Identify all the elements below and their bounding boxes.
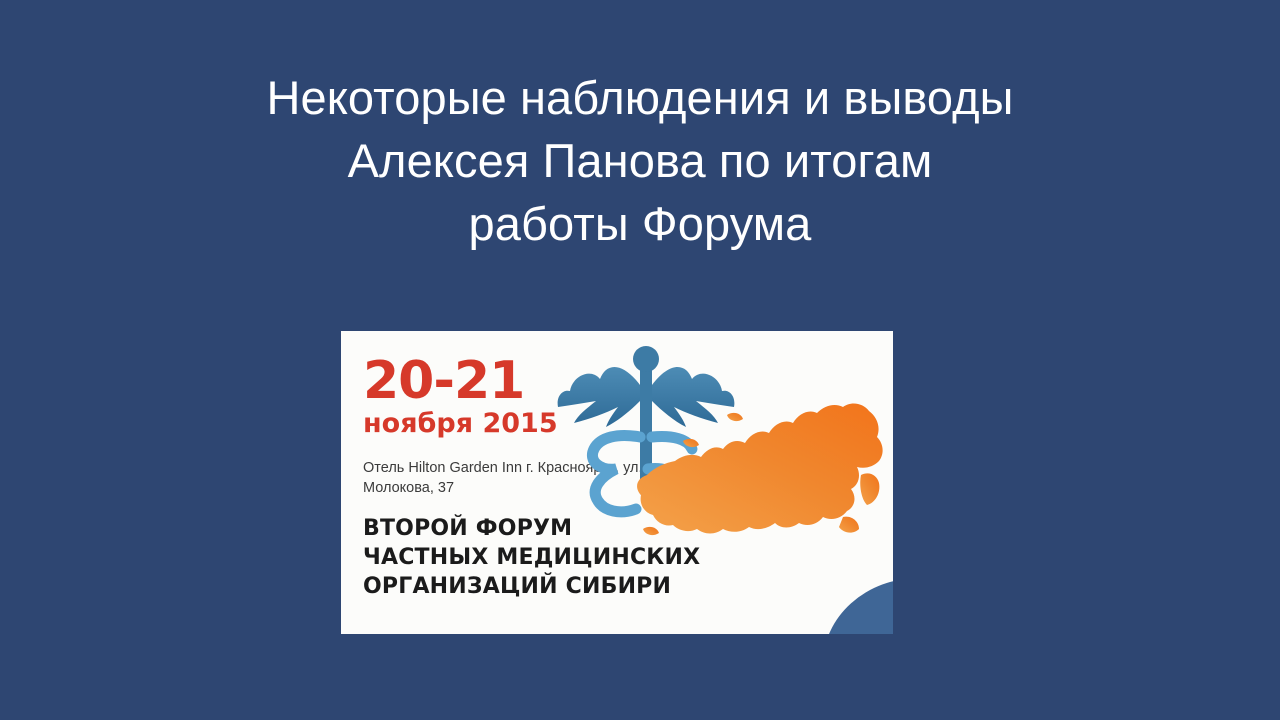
page-title: Некоторые наблюдения и выводы Алексея Па… [90, 66, 1190, 255]
banner-headline: ВТОРОЙ ФОРУМ ЧАСТНЫХ МЕДИЦИНСКИХ ОРГАНИЗ… [363, 514, 700, 601]
corner-accent-shape [823, 578, 893, 634]
presentation-slide: Некоторые наблюдения и выводы Алексея Па… [0, 0, 1280, 720]
conference-banner-image: 20-21 ноября 2015 Отель Hilton Garden In… [341, 331, 893, 634]
